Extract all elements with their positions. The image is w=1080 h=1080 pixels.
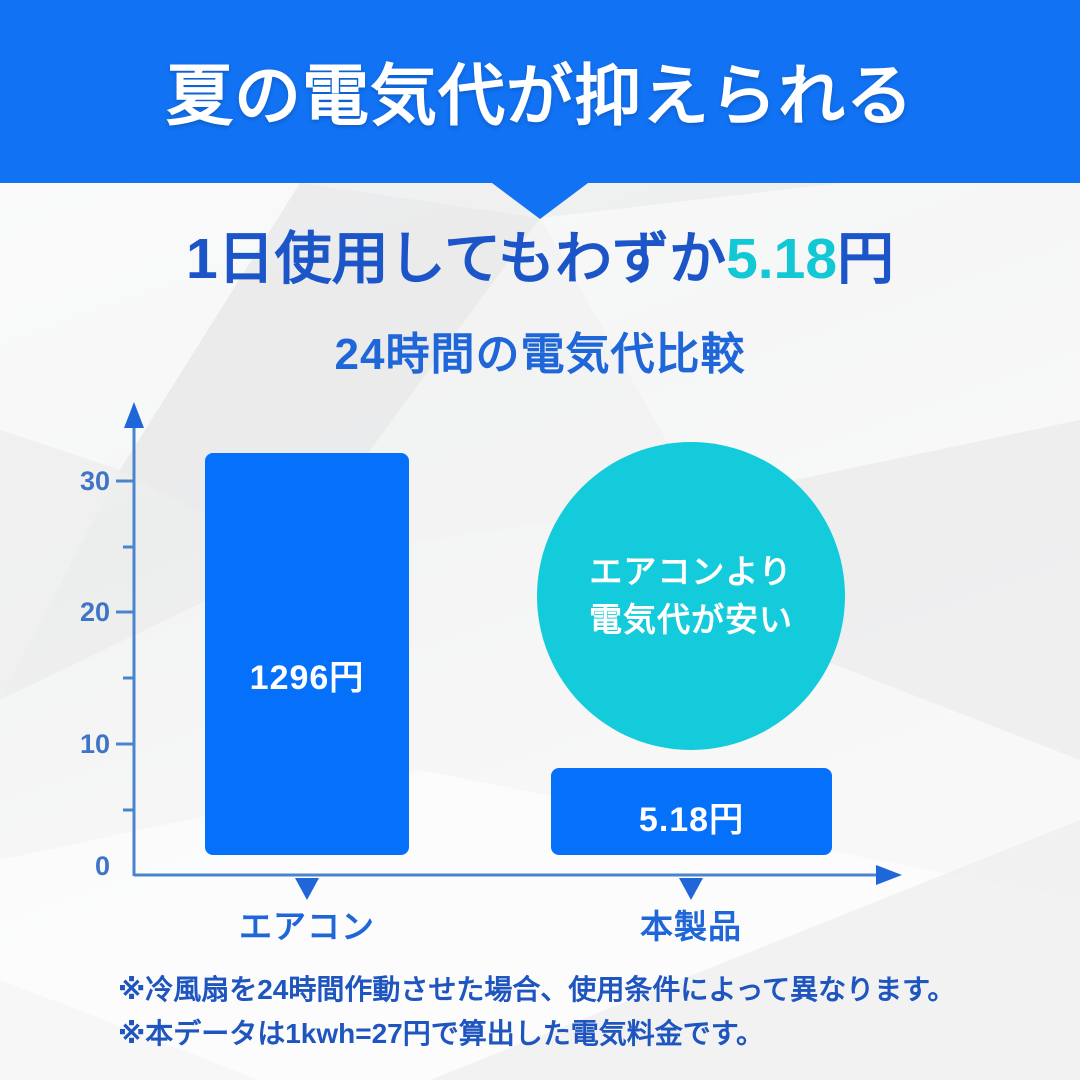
x-category-label-aircon: エアコン: [200, 900, 414, 948]
infographic-canvas: 夏の電気代が抑えられる 1日使用してもわずか5.18円 24時間の電気代比較: [0, 0, 1080, 1080]
headline-accent-value: 5.18: [726, 227, 837, 291]
footnote-1: ※冷風扇を24時間作動させた場合、使用条件によって異なります。: [118, 968, 998, 1012]
savings-badge-line1: エアコンより: [589, 548, 792, 596]
y-tick-label-0: 0: [50, 851, 110, 882]
x-category-label-product: 本製品: [584, 900, 798, 948]
bar-aircon: 1296円: [205, 453, 409, 855]
headline: 1日使用してもわずか5.18円: [0, 228, 1080, 291]
chart-caption: 24時間の電気代比較: [0, 318, 1080, 382]
bar-product: 5.18円: [551, 768, 832, 855]
savings-badge-line2: 電気代が安い: [589, 596, 793, 644]
footnotes: ※冷風扇を24時間作動させた場合、使用条件によって異なります。 ※本データは1k…: [118, 968, 998, 1056]
savings-badge: エアコンより 電気代が安い: [537, 442, 845, 750]
page-title: 夏の電気代が抑えられる: [0, 58, 1080, 135]
headline-prefix: 1日使用してもわずか: [186, 227, 726, 291]
y-tick-label-10: 10: [50, 729, 110, 760]
headline-suffix: 円: [837, 227, 894, 291]
bar-value-label-aircon: 1296円: [205, 650, 409, 699]
header-notch-triangle: [492, 183, 588, 219]
y-tick-label-20: 20: [50, 597, 110, 628]
bar-value-label-product: 5.18円: [551, 792, 832, 841]
y-tick-label-30: 30: [50, 466, 110, 497]
footnote-2: ※本データは1kwh=27円で算出した電気料金です。: [118, 1012, 998, 1056]
